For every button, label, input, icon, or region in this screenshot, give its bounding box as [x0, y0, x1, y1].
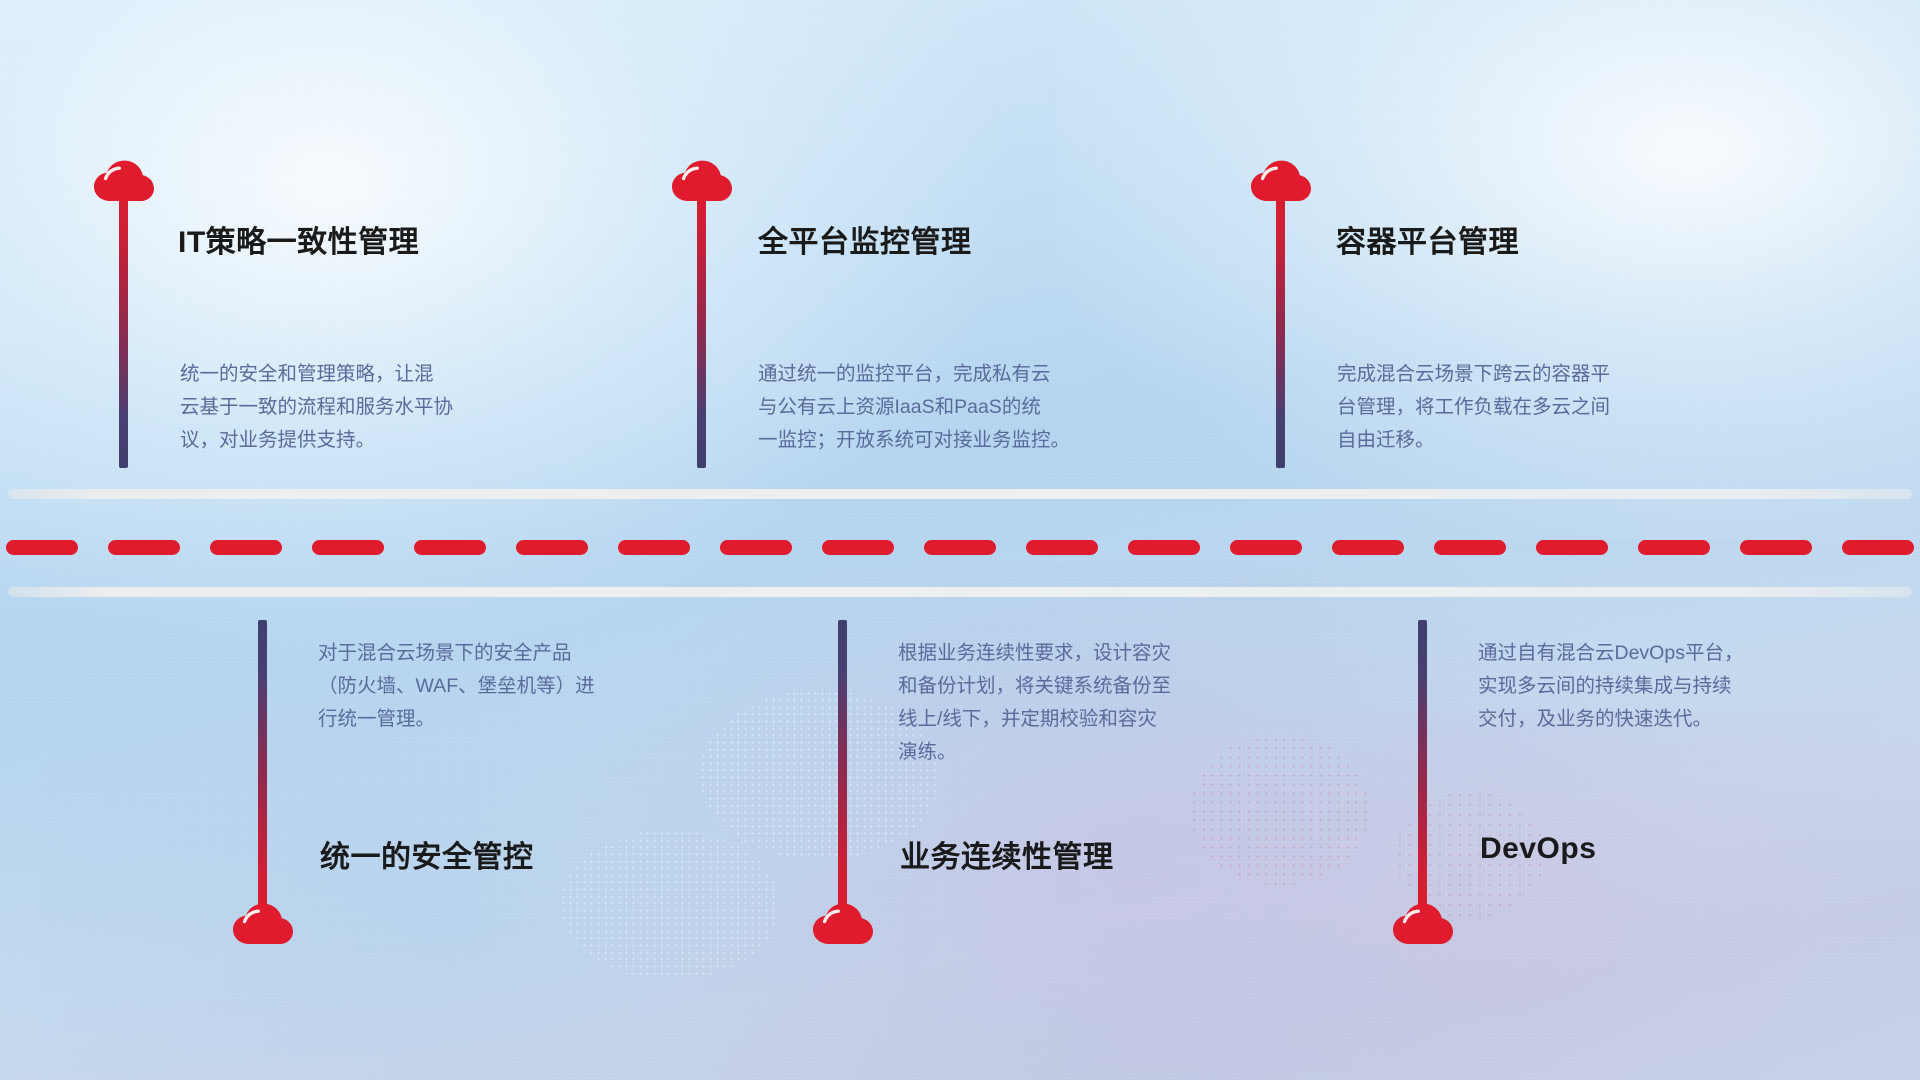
pin-stem: [697, 180, 706, 468]
road-center-dashes: [0, 539, 1920, 555]
pin-title: 容器平台管理: [1336, 217, 1519, 261]
cloud-marker-icon: [671, 160, 733, 204]
road-dash: [1842, 540, 1914, 555]
pin-title: DevOps: [1480, 832, 1596, 866]
road-dash: [618, 540, 690, 555]
road-dash: [1128, 540, 1200, 555]
pin-title: 业务连续性管理: [900, 832, 1114, 876]
road-dash: [1638, 540, 1710, 555]
infographic-canvas: IT策略一致性管理 统一的安全和管理策略，让混 云基于一致的流程和服务水平协 议…: [0, 0, 1920, 1080]
pin-body-text: 完成混合云场景下跨云的容器平 台管理，将工作负载在多云之间 自由迁移。: [1337, 358, 1689, 457]
cloud-marker-icon: [1392, 903, 1454, 947]
road-edge-bottom: [8, 587, 1912, 597]
road-dash: [1536, 540, 1608, 555]
road-dash: [1434, 540, 1506, 555]
pin-stem: [1276, 180, 1285, 468]
cloud-marker-icon: [812, 903, 874, 947]
pin-title: IT策略一致性管理: [178, 217, 419, 261]
road-dash: [924, 540, 996, 555]
road-dash: [1230, 540, 1302, 555]
pin-stem: [119, 180, 128, 468]
pin-body-text: 通过自有混合云DevOps平台， 实现多云间的持续集成与持续 交付，及业务的快速…: [1478, 637, 1830, 736]
road-dash: [1332, 540, 1404, 555]
speckle-cluster: [560, 830, 780, 980]
road-dash: [516, 540, 588, 555]
road-dash: [1026, 540, 1098, 555]
pin-body-text: 统一的安全和管理策略，让混 云基于一致的流程和服务水平协 议，对业务提供支持。: [180, 358, 532, 457]
road-dash: [210, 540, 282, 555]
cloud-marker-icon: [93, 160, 155, 204]
cloud-marker-icon: [1250, 160, 1312, 204]
pin-body-text: 通过统一的监控平台，完成私有云 与公有云上资源IaaS和PaaS的统 一监控；开…: [758, 358, 1130, 457]
cloud-marker-icon: [232, 903, 294, 947]
pin-stem: [1418, 620, 1427, 920]
road-dash: [414, 540, 486, 555]
road-dash: [1740, 540, 1812, 555]
road-dash: [720, 540, 792, 555]
road-dash: [822, 540, 894, 555]
pin-stem: [838, 620, 847, 920]
road-dash: [312, 540, 384, 555]
road-edge-top: [8, 489, 1912, 499]
pin-body-text: 根据业务连续性要求，设计容灾 和备份计划，将关键系统备份至 线上/线下，并定期校…: [898, 637, 1250, 769]
pin-title: 统一的安全管控: [320, 832, 534, 876]
pin-body-text: 对于混合云场景下的安全产品 （防火墙、WAF、堡垒机等）进 行统一管理。: [318, 637, 670, 736]
pin-title: 全平台监控管理: [758, 217, 972, 261]
road-dash: [108, 540, 180, 555]
pin-stem: [258, 620, 267, 920]
road-dash: [6, 540, 78, 555]
